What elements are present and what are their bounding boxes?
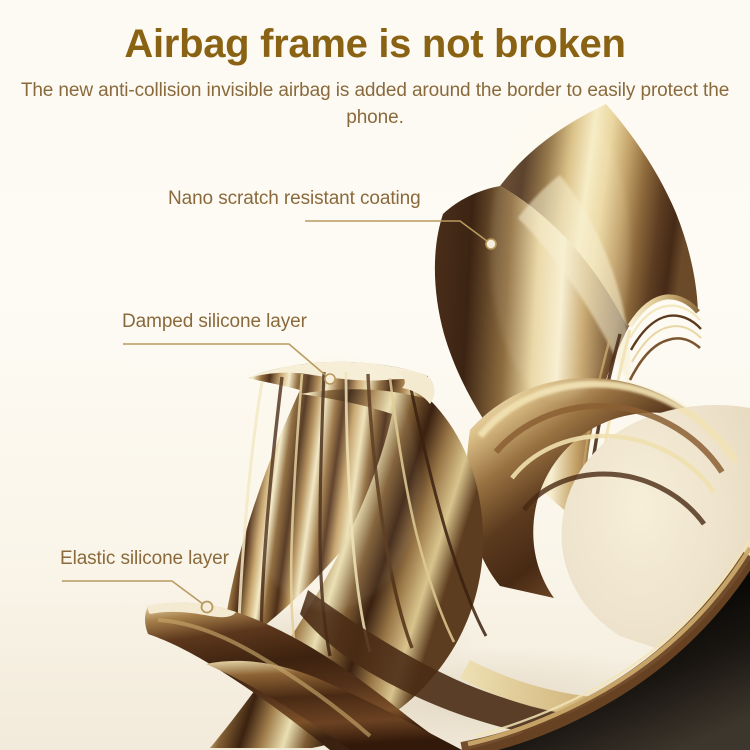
product-feature-banner: Airbag frame is not broken The new anti-…	[0, 0, 750, 750]
page-subtitle: The new anti-collision invisible airbag …	[6, 78, 744, 132]
callout-label-damped-silicone-layer: Damped silicone layer	[122, 311, 307, 333]
page-subtitle-line1: The new anti-collision invisible airbag …	[21, 80, 635, 101]
callout-label-nano-scratch-resistant-coating: Nano scratch resistant coating	[168, 188, 421, 210]
callout-label-elastic-silicone-layer: Elastic silicone layer	[60, 548, 229, 570]
page-title: Airbag frame is not broken	[0, 22, 750, 67]
